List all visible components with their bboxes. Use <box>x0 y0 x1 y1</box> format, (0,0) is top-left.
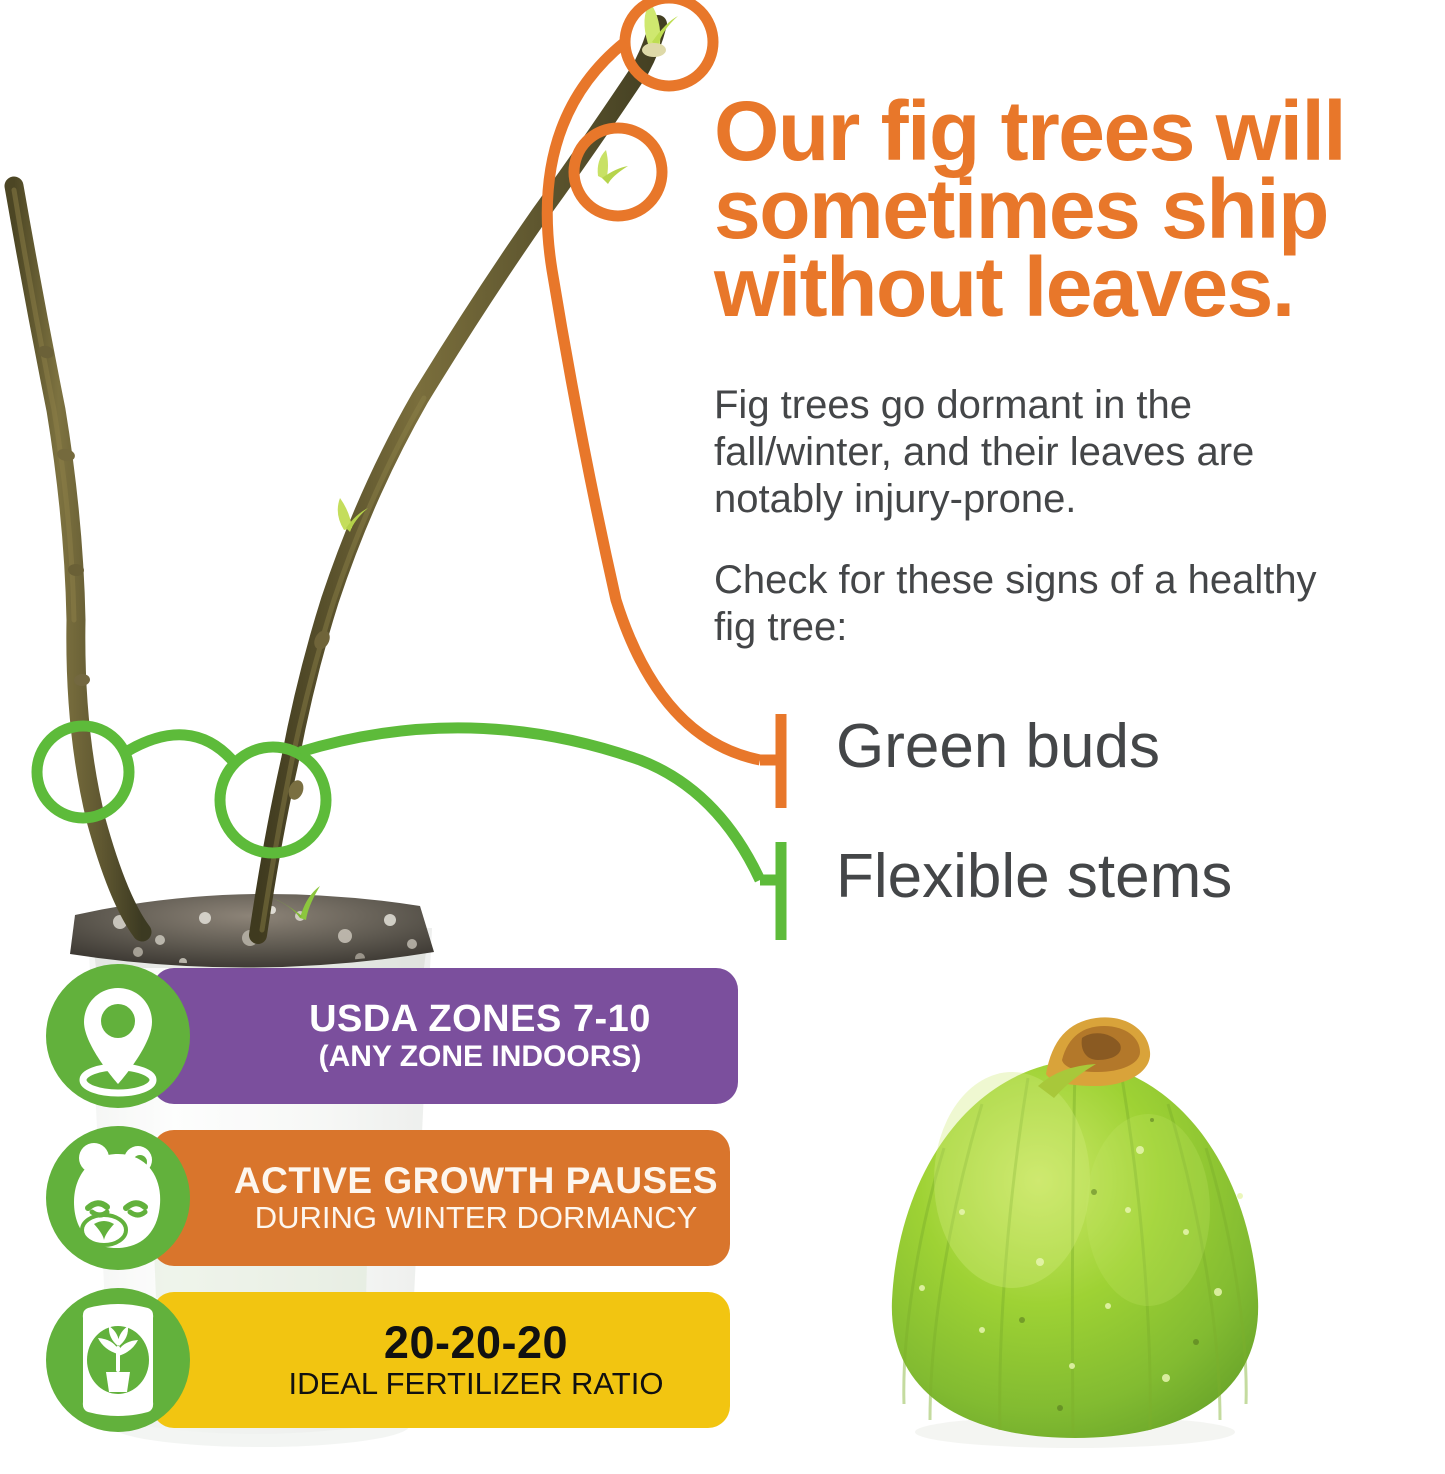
sleeping-bear-icon <box>42 1124 194 1272</box>
green-fig-fruit-photo <box>892 1017 1258 1448</box>
badge-pill-purple: USDA ZONES 7-10 (ANY ZONE INDOORS) <box>152 968 738 1104</box>
green-annotation <box>37 726 760 880</box>
orange-callout-bracket <box>760 714 781 808</box>
green-callout-bracket <box>760 842 781 940</box>
badge-secondary-text: DURING WINTER DORMANCY <box>255 1202 698 1235</box>
badge-primary-text: USDA ZONES 7-10 <box>309 1000 651 1039</box>
callout-label-green-buds: Green buds <box>836 716 1160 778</box>
page-title: Our fig trees will sometimes ship withou… <box>714 92 1444 326</box>
location-pin-icon <box>42 962 194 1110</box>
fertilizer-bag-icon <box>42 1286 194 1434</box>
green-bud-second <box>598 150 628 184</box>
fig-branches-photo <box>14 2 678 935</box>
badge-secondary-text: (ANY ZONE INDOORS) <box>319 1041 642 1073</box>
body-paragraph-signs: Check for these signs of a healthy fig t… <box>714 557 1364 651</box>
badge-primary-text: 20-20-20 <box>384 1320 568 1366</box>
orange-circle-bud-top <box>625 0 713 86</box>
body-paragraph-dormancy: Fig trees go dormant in the fall/winter,… <box>714 382 1364 522</box>
badge-pill-yellow: 20-20-20 IDEAL FERTILIZER RATIO <box>152 1292 730 1428</box>
infographic-canvas: Our fig trees will sometimes ship withou… <box>0 0 1445 1474</box>
callout-label-flexible-stems: Flexible stems <box>836 846 1232 908</box>
green-leader-line-right <box>300 728 760 880</box>
badge-primary-text: ACTIVE GROWTH PAUSES <box>234 1162 718 1200</box>
badge-pill-orange: ACTIVE GROWTH PAUSES DURING WINTER DORMA… <box>152 1130 730 1266</box>
badge-secondary-text: IDEAL FERTILIZER RATIO <box>289 1368 664 1401</box>
green-leader-line-left <box>126 735 232 760</box>
